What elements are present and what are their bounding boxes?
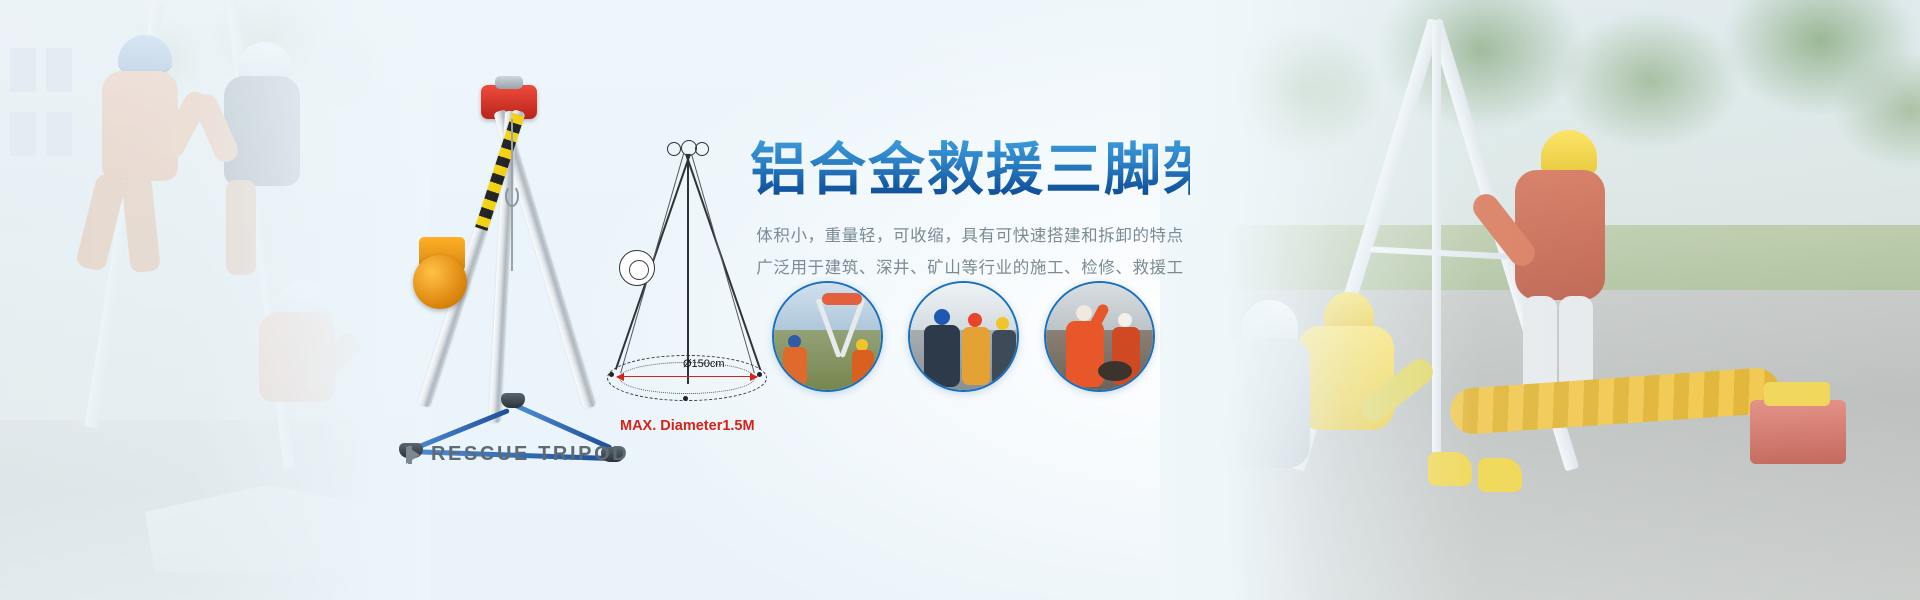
thumb2-worker-body	[924, 325, 960, 387]
thumb3-worker-head	[1076, 305, 1092, 321]
right-boot-1	[1428, 452, 1472, 486]
right-trees	[1180, 0, 1920, 270]
thumb2-worker2-head	[968, 313, 982, 327]
max-diameter-label: MAX. Diameter1.5M	[620, 418, 755, 434]
tripod-pulley-icon	[505, 185, 519, 207]
thumb1-worker2-body	[852, 350, 874, 386]
product-banner: RESCUE TRIPOD Ø150cm MAX. Diameter1.5M 铝…	[0, 0, 1920, 600]
left-pole-2	[226, 1, 294, 469]
right-grass	[1160, 225, 1920, 305]
play-triangle-icon	[408, 446, 420, 464]
thumb2-worker2-body	[962, 327, 990, 385]
left-pole-1	[84, 2, 164, 429]
thumb-site-inspection[interactable]	[908, 281, 1019, 392]
background-photo-left	[0, 0, 430, 600]
right-ground	[1160, 290, 1920, 600]
product-caption-text: RESCUE TRIPOD	[431, 443, 629, 466]
tripod-winch-drum	[413, 255, 467, 309]
thumb3-worker2-head	[1118, 313, 1132, 327]
left-tarp	[130, 485, 380, 575]
thumb2-worker3-head	[996, 317, 1009, 330]
left-building	[0, 20, 110, 230]
thumb2-worker3-body	[992, 330, 1016, 385]
product-image-tripod	[395, 85, 625, 460]
drawing-winch	[619, 250, 655, 286]
page-title: 铝合金救援三脚架	[750, 140, 1190, 200]
background-photo-right	[1160, 0, 1920, 600]
right-boot-2	[1478, 458, 1522, 492]
left-trees	[120, 0, 430, 290]
diameter-arrow-icon	[617, 376, 757, 377]
thumb1-worker-body	[783, 347, 807, 385]
thumb2-worker-head	[934, 309, 950, 325]
diameter-label: Ø150cm	[683, 358, 725, 370]
tripod-foot-center	[501, 393, 525, 408]
thumb3-manhole	[1098, 361, 1132, 381]
tripod-line-drawing: Ø150cm MAX. Diameter1.5M	[605, 140, 770, 405]
thumb-field-rescue[interactable]	[772, 281, 883, 392]
right-tripod	[1220, 20, 1640, 500]
product-caption: RESCUE TRIPOD	[408, 443, 629, 466]
drawing-leg-center	[687, 154, 689, 384]
thumb1-canopy	[822, 293, 862, 305]
left-ground	[0, 420, 430, 600]
thumbnail-row	[772, 281, 1155, 392]
thumb3-worker-body	[1066, 321, 1104, 387]
subtitle-line-1: 体积小，重量轻，可收缩，具有可快速搭建和拆卸的特点	[750, 221, 1190, 253]
drawing-leg-left-2	[691, 154, 755, 374]
thumb-manhole-rescue[interactable]	[1044, 281, 1155, 392]
right-hose	[1449, 367, 1781, 436]
right-sky	[1160, 0, 1920, 600]
left-sky	[0, 0, 430, 600]
